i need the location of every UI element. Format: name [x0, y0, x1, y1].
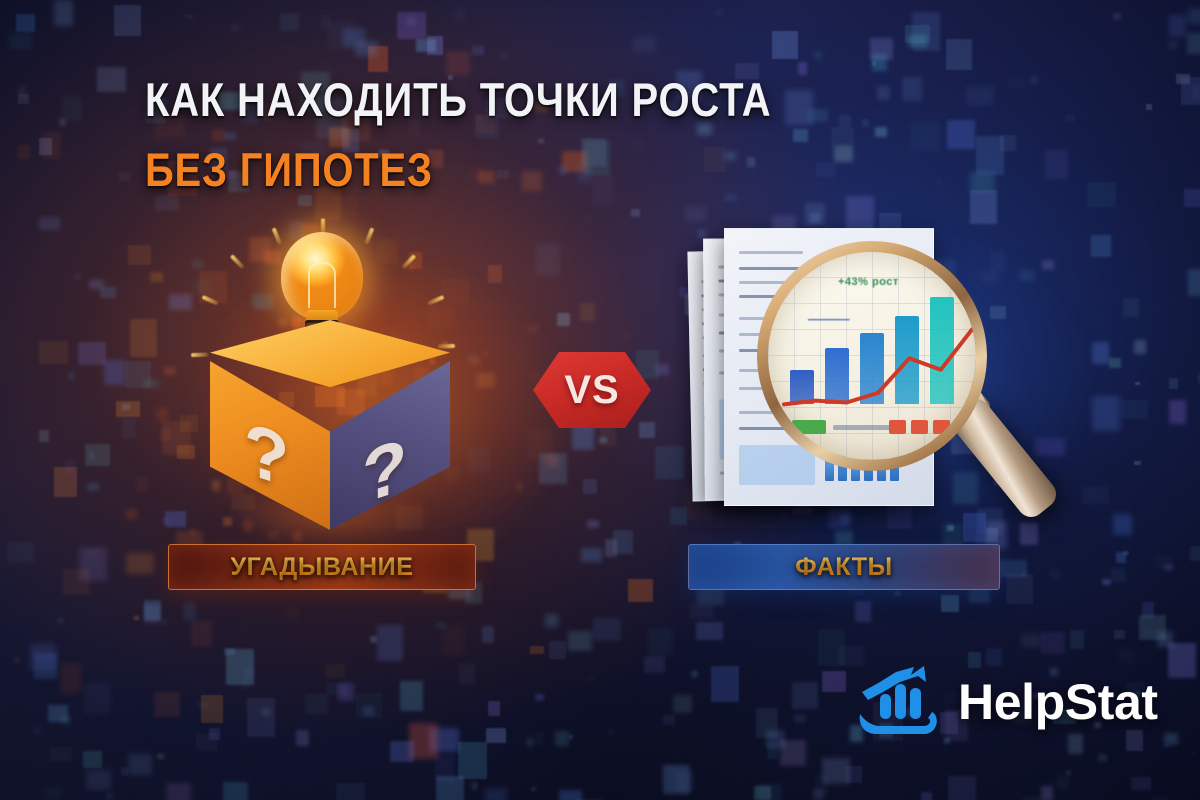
mosaic-block — [16, 14, 36, 31]
mosaic-block — [839, 115, 852, 128]
mosaic-block — [530, 646, 544, 655]
mosaic-block — [390, 741, 414, 762]
mosaic-block — [58, 618, 62, 623]
magnifier-rim — [757, 241, 987, 471]
mosaic-block — [855, 601, 871, 621]
mosaic-block — [1087, 182, 1116, 207]
mosaic-block — [231, 25, 239, 31]
mosaic-block — [1066, 771, 1071, 775]
mosaic-block — [1146, 104, 1152, 110]
mosaic-block — [1065, 115, 1075, 122]
mosaic-block — [941, 595, 958, 613]
mosaic-block — [808, 109, 828, 122]
lightbulb-ray — [272, 227, 282, 244]
mosaic-block — [185, 14, 193, 19]
mosaic-block — [1098, 754, 1107, 762]
mosaic-block — [862, 119, 869, 127]
mosaic-block — [1042, 260, 1054, 270]
mosaic-block — [673, 695, 692, 713]
mosaic-block — [559, 790, 583, 800]
mosaic-block — [872, 54, 888, 71]
mosaic-block — [136, 477, 149, 491]
mosaic-block — [539, 453, 566, 484]
badge-guessing-label: УГАДЫВАНИЕ — [231, 553, 414, 582]
mosaic-block — [244, 667, 254, 679]
mosaic-block — [1056, 776, 1069, 790]
mosaic-block — [1111, 568, 1127, 582]
mosaic-block — [100, 287, 116, 298]
mosaic-block — [879, 213, 901, 228]
mosaic-block — [583, 479, 597, 494]
mosaic-block — [794, 714, 806, 724]
mosaic-block — [1020, 523, 1038, 545]
mosaic-block — [798, 62, 807, 74]
mosaic-block — [696, 622, 723, 640]
mosaic-block — [818, 629, 845, 666]
mosaic-block — [1168, 643, 1196, 678]
mosaic-block — [78, 342, 106, 365]
mosaic-block — [1113, 514, 1132, 535]
mosaic-block — [1092, 396, 1121, 431]
mosaic-block — [535, 733, 543, 744]
mosaic-block — [639, 422, 655, 438]
mosaic-block — [416, 39, 436, 52]
mosaic-block — [370, 636, 377, 643]
mosaic-block — [894, 591, 901, 596]
mosaic-block — [633, 36, 656, 53]
mosaic-block — [532, 374, 538, 379]
mosaic-block — [338, 683, 354, 702]
mosaic-block — [772, 31, 798, 60]
mosaic-block — [65, 460, 75, 473]
mosaic-block — [7, 542, 34, 563]
mosaic-block — [134, 616, 139, 620]
mosaic-block — [545, 614, 557, 627]
mosaic-block — [1021, 634, 1041, 648]
mosaic-block — [155, 195, 178, 211]
badge-facts: ФАКТЫ — [688, 544, 1000, 590]
mosaic-block — [106, 793, 114, 800]
mosaic-block — [1184, 189, 1200, 206]
mosaic-block — [805, 203, 825, 225]
mosaic-block — [535, 694, 544, 702]
mosaic-block — [605, 539, 618, 557]
mosaic-block — [442, 625, 465, 657]
mosaic-block — [458, 742, 487, 779]
mosaic-block — [946, 39, 972, 71]
mosaic-block — [1113, 13, 1121, 20]
mosaic-block — [911, 121, 940, 150]
mosaic-block — [814, 52, 821, 59]
mosaic-block — [150, 272, 163, 282]
mosaic-block — [454, 8, 465, 21]
mosaic-block — [377, 625, 402, 661]
lightbulb-ray — [401, 254, 416, 269]
mosaic-block — [608, 729, 614, 735]
mosaic-block — [648, 628, 673, 656]
mosaic-block — [86, 550, 98, 557]
mosaic-block — [527, 738, 533, 746]
mosaic-block — [875, 127, 887, 137]
mosaic-block — [154, 692, 180, 717]
lightbulb-filament — [308, 262, 336, 308]
mosaic-block — [589, 677, 594, 680]
helpstat-logo: HelpStat — [858, 662, 1158, 742]
mosaic-block — [104, 360, 125, 384]
mosaic-block — [908, 35, 927, 47]
mosaic-block — [262, 709, 270, 715]
mosaic-block — [34, 653, 57, 679]
mosaic-block — [1191, 751, 1196, 754]
mosaic-block — [144, 600, 160, 620]
mosaic-block — [1188, 8, 1200, 25]
mosaic-block — [446, 51, 470, 76]
mosaic-block — [1187, 33, 1200, 54]
mosaic-block — [50, 747, 72, 761]
mosaic-block — [459, 664, 475, 685]
mosaic-block — [1181, 77, 1200, 106]
lightbulb-ray — [427, 295, 444, 306]
helpstat-logo-mark — [858, 662, 944, 742]
facts-illustration: +43% рост ▁▁▁▁▁▁ — [690, 228, 1020, 528]
mosaic-block — [1134, 461, 1141, 465]
mosaic-block — [183, 603, 196, 620]
mosaic-block — [527, 325, 538, 333]
mosaic-block — [536, 243, 560, 276]
mosaic-block — [1164, 564, 1174, 571]
mosaic-block — [1121, 400, 1148, 419]
lightbulb-ray — [230, 254, 245, 269]
mosaic-block — [247, 698, 275, 737]
question-mark-left: ? — [244, 405, 289, 505]
badge-facts-label: ФАКТЫ — [795, 553, 892, 582]
mosaic-block — [568, 631, 592, 651]
mosaic-block — [488, 701, 500, 716]
mosaic-block — [555, 731, 569, 745]
mosaic-block — [947, 120, 976, 149]
mosaic-block — [1109, 358, 1122, 368]
mosaic-block — [1035, 438, 1065, 456]
mosaic-block — [569, 735, 573, 739]
mosaic-block — [83, 751, 102, 768]
mosaic-block — [792, 682, 817, 709]
mosaic-block — [356, 693, 382, 717]
mosaic-block — [970, 190, 997, 224]
mosaic-block — [89, 452, 94, 458]
mosaic-block — [128, 754, 151, 775]
mosaic-block — [63, 569, 90, 595]
mosaic-block — [1131, 777, 1151, 791]
mosaic-block — [61, 715, 71, 724]
mosaic-block — [1139, 615, 1166, 640]
mosaic-block — [14, 656, 20, 663]
mosaic-block — [1019, 270, 1034, 282]
mosaic-block — [1102, 579, 1111, 585]
mosaic-block — [1091, 235, 1111, 257]
mosaic-block — [60, 663, 82, 693]
mosaic-block — [84, 682, 112, 713]
mosaic-block — [1134, 340, 1145, 354]
lightbulb-ray — [202, 295, 219, 306]
mosaic-block — [157, 408, 168, 420]
headline-block: КАК НАХОДИТЬ ТОЧКИ РОСТА БЕЗ ГИПОТЕЗ — [145, 76, 771, 188]
mosaic-block — [822, 758, 850, 784]
mosaic-block — [486, 728, 506, 743]
mosaic-block — [160, 428, 171, 441]
mosaic-block — [1045, 150, 1068, 179]
mosaic-block — [122, 404, 130, 410]
mosaic-block — [284, 608, 300, 618]
mosaic-block — [976, 136, 1005, 175]
mosaic-block — [97, 67, 127, 92]
mosaic-block — [584, 215, 591, 222]
mosaic-block — [1009, 78, 1025, 90]
mosaic-block — [1169, 41, 1177, 49]
mosaic-block — [114, 5, 140, 36]
magnifying-glass-icon: +43% рост ▁▁▁▁▁▁ — [768, 252, 976, 460]
mosaic-block — [902, 77, 922, 102]
mosaic-block — [166, 783, 191, 800]
mosaic-block — [209, 728, 220, 740]
mosaic-block — [1169, 15, 1185, 37]
mosaic-block — [834, 146, 853, 162]
mosaic-block — [241, 679, 249, 689]
mosaic-block — [685, 206, 706, 222]
mosaic-block — [1114, 630, 1125, 638]
mosaic-block — [325, 664, 344, 678]
mosaic-block — [39, 341, 67, 363]
mosaic-block — [126, 509, 137, 519]
mosaic-block — [42, 132, 61, 159]
headline-line-2: БЕЗ ГИПОТЕЗ — [145, 146, 771, 196]
mosaic-block — [966, 86, 994, 106]
mosaic-block — [1164, 733, 1178, 745]
mosaic-block — [631, 209, 640, 217]
mosaic-block — [621, 333, 630, 339]
mosaic-block — [1135, 382, 1140, 385]
mosaic-block — [18, 94, 29, 105]
mosaic-block — [531, 787, 536, 790]
mosaic-block — [435, 755, 455, 782]
mosaic-block — [793, 129, 808, 142]
mosaic-block — [822, 671, 846, 692]
mosaic-block — [766, 730, 785, 748]
mosaic-block — [516, 483, 522, 491]
mosaic-block — [130, 319, 157, 357]
badge-guessing: УГАДЫВАНИЕ — [168, 544, 476, 590]
mosaic-block — [1169, 378, 1178, 389]
promo-banner: КАК НАХОДИТЬ ТОЧКИ РОСТА БЕЗ ГИПОТЕЗ ? ?… — [0, 0, 1200, 800]
mosaic-block — [600, 428, 616, 446]
mosaic-block — [400, 681, 423, 711]
mosaic-block — [343, 28, 365, 46]
mosaic-block — [877, 86, 890, 100]
mosaic-block — [937, 181, 942, 186]
helpstat-logo-text: HelpStat — [958, 673, 1158, 731]
mosaic-block — [1190, 546, 1200, 561]
mosaic-block — [1070, 630, 1084, 649]
mosaic-block — [921, 792, 932, 800]
mosaic-block — [1082, 487, 1109, 505]
mosaic-block — [1169, 400, 1187, 424]
mosaic-block — [18, 145, 30, 160]
mosaic-block — [1030, 77, 1038, 83]
mosaic-block — [711, 666, 739, 702]
mosaic-block — [33, 727, 42, 735]
mosaic-block — [9, 33, 32, 50]
mosaic-block — [128, 245, 151, 266]
mosaic-block — [1041, 786, 1053, 800]
question-mark-right: ? — [362, 421, 407, 521]
lightbulb-ray — [364, 227, 374, 244]
mosaic-block — [54, 0, 74, 26]
guessing-illustration: ? ? — [170, 210, 490, 540]
mosaic-block — [1188, 269, 1200, 296]
mosaic-block — [663, 715, 675, 725]
versus-label: VS — [564, 368, 619, 413]
mosaic-block — [472, 46, 484, 55]
mosaic-block — [1071, 296, 1076, 301]
mosaic-block — [581, 548, 602, 563]
mosaic-block — [121, 767, 128, 776]
mosaic-block — [948, 776, 976, 800]
mosaic-block — [62, 96, 82, 121]
mosaic-block — [1116, 552, 1126, 563]
mosaic-block — [122, 418, 137, 437]
mosaic-block — [549, 641, 565, 659]
mosaic-block — [593, 618, 621, 641]
mosaic-block — [219, 707, 224, 710]
mosaic-block — [1050, 569, 1060, 579]
mosaic-block — [280, 13, 300, 31]
mosaic-block — [119, 172, 130, 182]
mosaic-block — [587, 520, 599, 528]
mosaic-block — [68, 372, 75, 379]
mosaic-block — [87, 483, 99, 491]
mosaic-block — [1092, 342, 1109, 364]
mosaic-block — [472, 782, 478, 789]
mosaic-block — [406, 17, 416, 26]
mosaic-block — [126, 553, 154, 574]
mosaic-block — [485, 788, 507, 800]
mosaic-block — [86, 770, 112, 790]
mosaic-block — [75, 273, 81, 280]
mosaic-block — [296, 730, 309, 746]
mosaic-block — [690, 604, 714, 618]
mosaic-block — [223, 782, 248, 800]
mosaic-block — [1006, 574, 1033, 604]
mosaic-block — [46, 787, 61, 800]
mosaic-block — [39, 430, 49, 443]
mosaic-block — [500, 53, 508, 59]
mosaic-block — [644, 656, 665, 673]
mosaic-block — [161, 619, 165, 624]
mosaic-block — [676, 772, 694, 793]
mystery-box: ? ? — [180, 320, 480, 550]
mosaic-block — [336, 783, 364, 800]
mosaic-block — [144, 379, 159, 388]
mosaic-block — [715, 9, 723, 16]
mosaic-block — [580, 303, 595, 321]
headline-line-1: КАК НАХОДИТЬ ТОЧКИ РОСТА — [145, 76, 771, 126]
mosaic-block — [758, 784, 782, 800]
mosaic-block — [39, 217, 59, 230]
mosaic-block — [1123, 298, 1139, 316]
mosaic-block — [1041, 632, 1065, 654]
mosaic-block — [305, 694, 328, 715]
mosaic-block — [655, 446, 684, 478]
mosaic-block — [191, 621, 212, 646]
mosaic-block — [628, 579, 653, 602]
mosaic-block — [816, 162, 836, 177]
mosaic-block — [557, 313, 569, 326]
mosaic-block — [692, 671, 697, 677]
mosaic-block — [482, 626, 494, 642]
mosaic-block — [157, 754, 163, 759]
